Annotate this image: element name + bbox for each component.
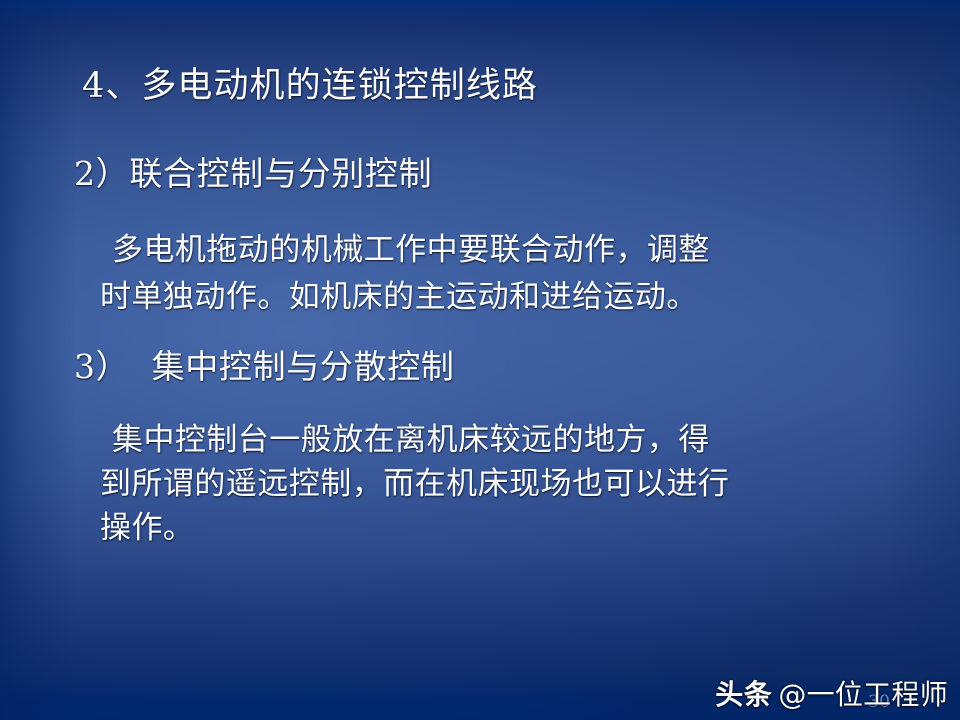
section-2-body-line-2: 时单独动作。如机床的主运动和进给运动。 xyxy=(100,276,698,318)
slide-title: 4、多电动机的连锁控制线路 xyxy=(82,63,538,109)
section-3-body-line-3: 操作。 xyxy=(100,507,194,549)
watermark-handle: @一位工程师 xyxy=(778,673,948,713)
section-3-body-line-2: 到所谓的遥远控制，而在机床现场也可以进行 xyxy=(100,463,729,505)
watermark-brand: 头条 xyxy=(715,673,772,713)
watermark: 头条 @一位工程师 xyxy=(715,673,948,713)
slide-canvas: 4、多电动机的连锁控制线路 2）联合控制与分别控制 多电机拖动的机械工作中要联合… xyxy=(0,0,960,720)
section-heading-3: 3） 集中控制与分散控制 xyxy=(74,345,455,389)
section-heading-2: 2）联合控制与分别控制 xyxy=(74,152,432,196)
slide-content: 4、多电动机的连锁控制线路 2）联合控制与分别控制 多电机拖动的机械工作中要联合… xyxy=(0,0,960,720)
section-3-body-line-1: 集中控制台一般放在离机床较远的地方，得 xyxy=(112,419,710,461)
section-2-body-line-1: 多电机拖动的机械工作中要联合动作，调整 xyxy=(112,229,710,271)
